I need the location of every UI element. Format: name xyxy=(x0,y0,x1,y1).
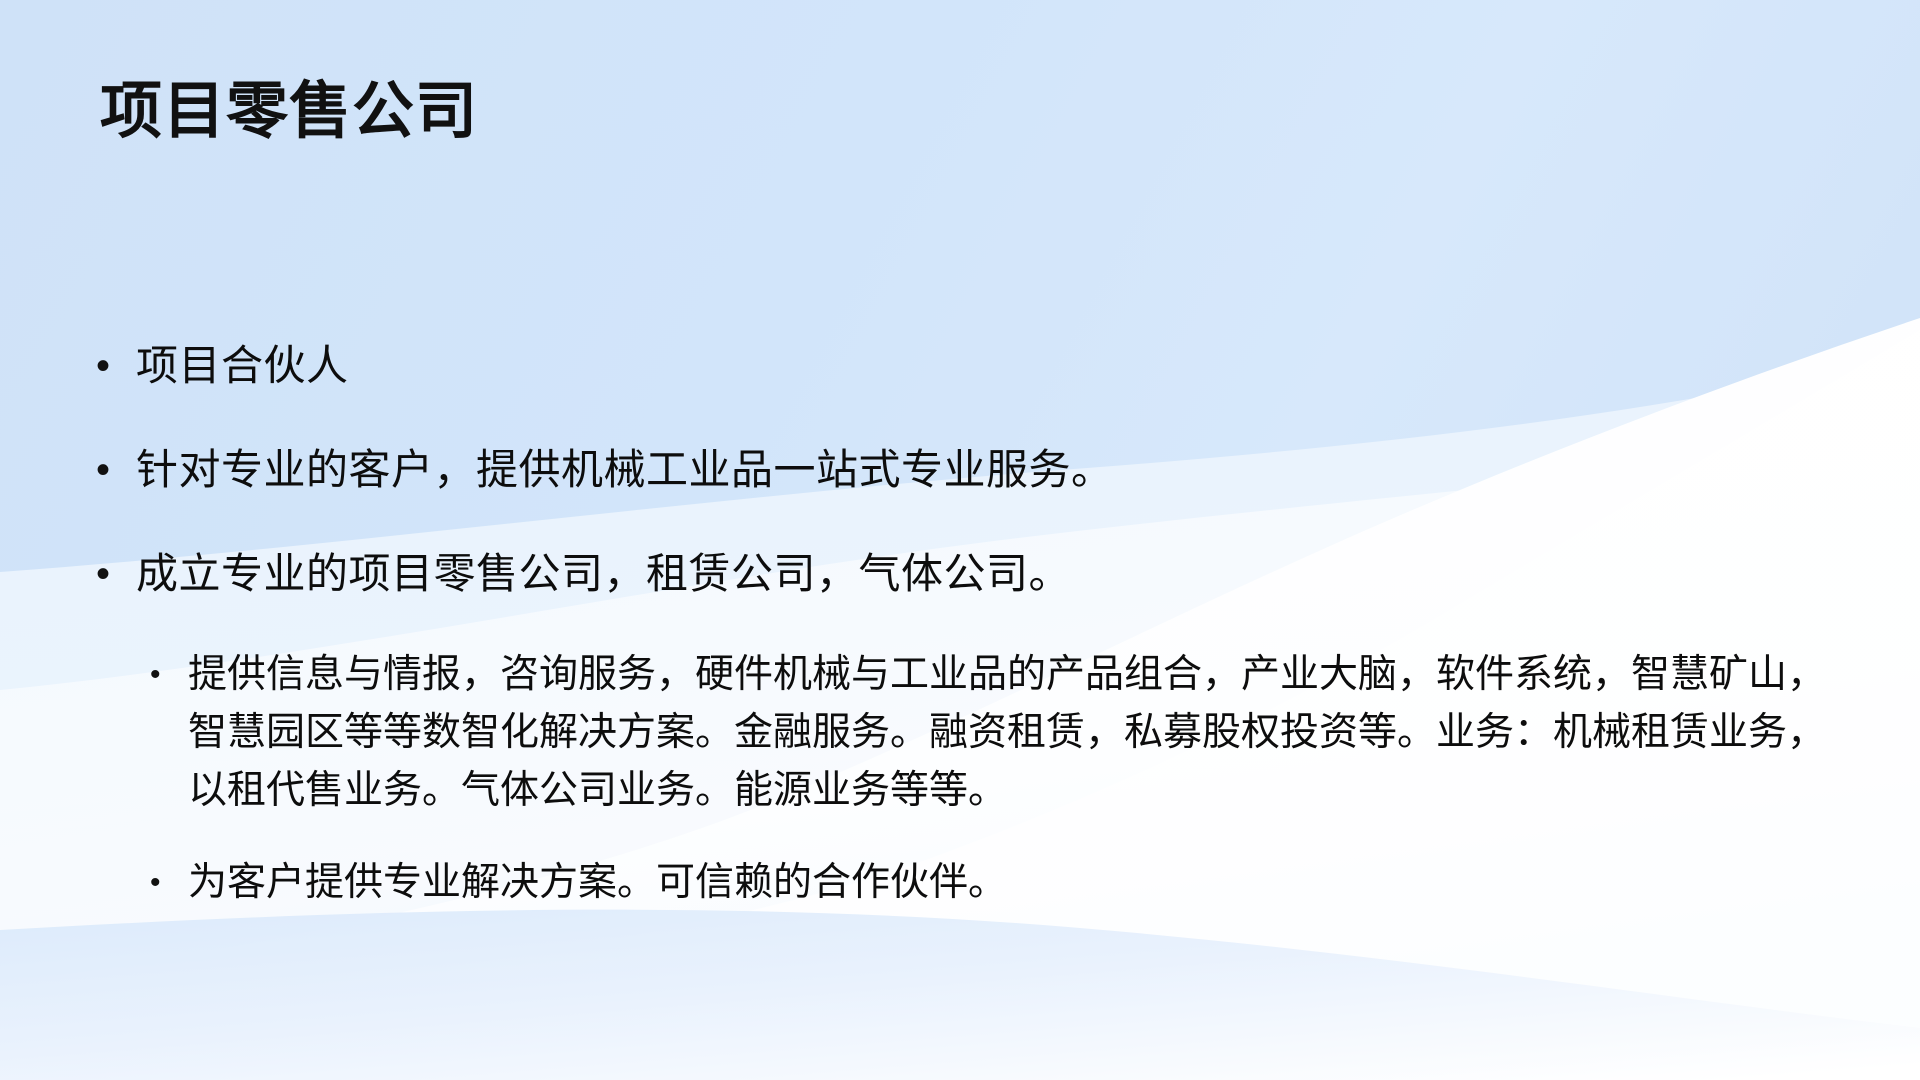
bullet-text: 针对专业的客户，提供机械工业品一站式专业服务。 xyxy=(136,442,1114,498)
sub-bullet-text: 提供信息与情报，咨询服务，硬件机械与工业品的产品组合，产业大脑，软件系统，智慧矿… xyxy=(188,646,1848,820)
bullet-item-1: • 项目合伙人 xyxy=(92,338,1852,394)
slide-content: 项目零售公司 • 项目合伙人 • 针对专业的客户，提供机械工业品一站式专业服务。… xyxy=(0,0,1920,1080)
bullet-dot-icon: • xyxy=(92,338,136,394)
bullet-text: 项目合伙人 xyxy=(136,338,349,394)
sub-bullet-list: • 提供信息与情报，咨询服务，硬件机械与工业品的产品组合，产业大脑，软件系统，智… xyxy=(92,646,1852,912)
sub-bullet-item-2: • 为客户提供专业解决方案。可信赖的合作伙伴。 xyxy=(150,854,1852,912)
bullet-list: • 项目合伙人 • 针对专业的客户，提供机械工业品一站式专业服务。 • 成立专业… xyxy=(92,338,1852,946)
bullet-text: 成立专业的项目零售公司，租赁公司，气体公司。 xyxy=(136,546,1071,602)
bullet-dot-icon: • xyxy=(92,442,136,498)
bullet-dot-icon: • xyxy=(150,646,188,704)
sub-bullet-text: 为客户提供专业解决方案。可信赖的合作伙伴。 xyxy=(188,854,1007,912)
bullet-dot-icon: • xyxy=(92,546,136,602)
sub-bullet-item-1: • 提供信息与情报，咨询服务，硬件机械与工业品的产品组合，产业大脑，软件系统，智… xyxy=(150,646,1852,820)
bullet-item-2: • 针对专业的客户，提供机械工业品一站式专业服务。 xyxy=(92,442,1852,498)
bullet-dot-icon: • xyxy=(150,854,188,912)
page-title: 项目零售公司 xyxy=(100,78,478,146)
slide-canvas: 项目零售公司 • 项目合伙人 • 针对专业的客户，提供机械工业品一站式专业服务。… xyxy=(0,0,1920,1080)
bullet-item-3: • 成立专业的项目零售公司，租赁公司，气体公司。 xyxy=(92,546,1852,602)
